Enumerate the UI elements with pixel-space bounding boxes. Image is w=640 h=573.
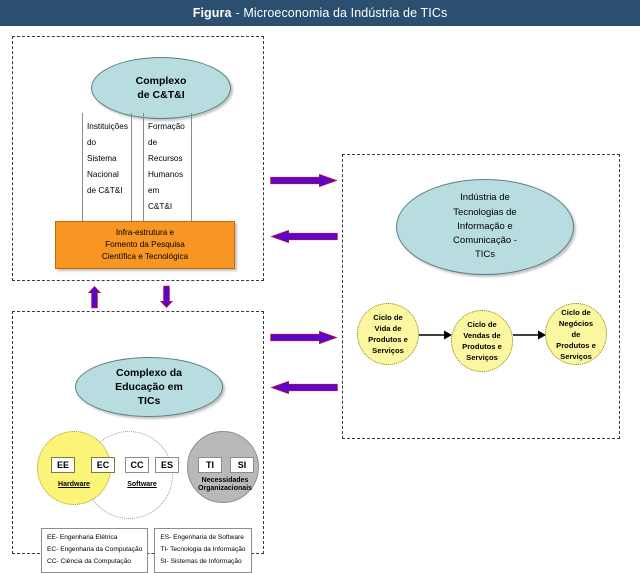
legend-abbreviations: EE- Engenharia Elétrica EC- Engenharia d… <box>41 528 252 573</box>
panel-industria-tics: Indústria de Tecnologias de Informação e… <box>342 154 620 439</box>
figure-title-bar: Figura - Microeconomia da Indústria de T… <box>0 0 640 26</box>
ellipse-industria-tics: Indústria de Tecnologias de Informação e… <box>396 179 574 275</box>
text-instituicoes-sistema-nacional: Instituições do Sistema Nacional de C&T&… <box>87 119 135 199</box>
legend-item-cc: CC- Ciência da Computação <box>47 556 142 568</box>
connector-line-3 <box>143 113 144 221</box>
legend-item-es: ES- Engenharia de Software <box>160 532 245 544</box>
venn-box-es: ES <box>155 457 179 473</box>
legend-item-ee: EE- Engenharia Elétrica <box>47 532 142 544</box>
cycle-ciclo-de-vida: Ciclo de Vida de Produtos e Serviços <box>357 303 419 365</box>
connector-line-1 <box>82 113 83 221</box>
arrow-educacao-to-tics <box>263 331 345 344</box>
venn-label-necessidades-organizacionais: Necessidades Organizacionais <box>195 477 255 494</box>
venn-label-hardware: Hardware <box>45 481 103 489</box>
arrow-cti-to-tics <box>263 174 345 187</box>
venn-box-ti: TI <box>198 457 222 473</box>
panel-complexo-educacao-tics: Complexo da Educação em TICs EE EC CC ES… <box>12 311 264 554</box>
title-strong: Figura <box>193 6 232 20</box>
legend-item-si: SI- Sistemas de Informação <box>160 556 245 568</box>
venn-diagram-areas: EE EC CC ES TI SI Hardware Software Nece… <box>35 429 263 507</box>
arrow-tics-to-cti <box>263 230 345 243</box>
diagram-canvas: Complexo de C&T&I Instituições do Sistem… <box>0 26 640 559</box>
venn-label-software: Software <box>113 481 171 489</box>
box-infraestrutura-fomento-pesquisa: Infra-estrutura e Fomento da Pesquisa Ci… <box>55 221 235 269</box>
legend-box-left: EE- Engenharia Elétrica EC- Engenharia d… <box>41 528 148 573</box>
venn-box-cc: CC <box>125 457 149 473</box>
ellipse-complexo-educacao: Complexo da Educação em TICs <box>75 357 223 417</box>
venn-box-si: SI <box>230 457 254 473</box>
arrow-tics-to-educacao <box>263 381 345 394</box>
title-rest: - Microeconomia da Indústria de TICs <box>236 6 448 20</box>
ellipse-complexo-cti: Complexo de C&T&I <box>91 57 231 119</box>
cycle-ciclo-de-vendas: Ciclo de Vendas de Produtos e Serviços <box>451 310 513 372</box>
panel-complexo-cti: Complexo de C&T&I Instituições do Sistem… <box>12 36 264 281</box>
arrow-cti-to-educacao-down <box>160 282 173 312</box>
cycle-arrow-2 <box>513 329 547 341</box>
arrow-educacao-to-cti-up <box>88 282 101 312</box>
cycle-arrow-1 <box>419 329 453 341</box>
text-formacao-recursos-humanos: Formação de Recursos Humanos em C&T&I <box>148 119 196 215</box>
legend-box-right: ES- Engenharia de Software TI- Tecnologi… <box>154 528 251 573</box>
venn-box-ee: EE <box>51 457 75 473</box>
cycle-ciclo-de-negocios: Ciclo de Negócios de Produtos e Serviços <box>545 303 607 365</box>
legend-item-ti: TI- Tecnologia da Informação <box>160 544 245 556</box>
legend-item-ec: EC- Engenharia da Computação <box>47 544 142 556</box>
venn-box-ec: EC <box>91 457 115 473</box>
